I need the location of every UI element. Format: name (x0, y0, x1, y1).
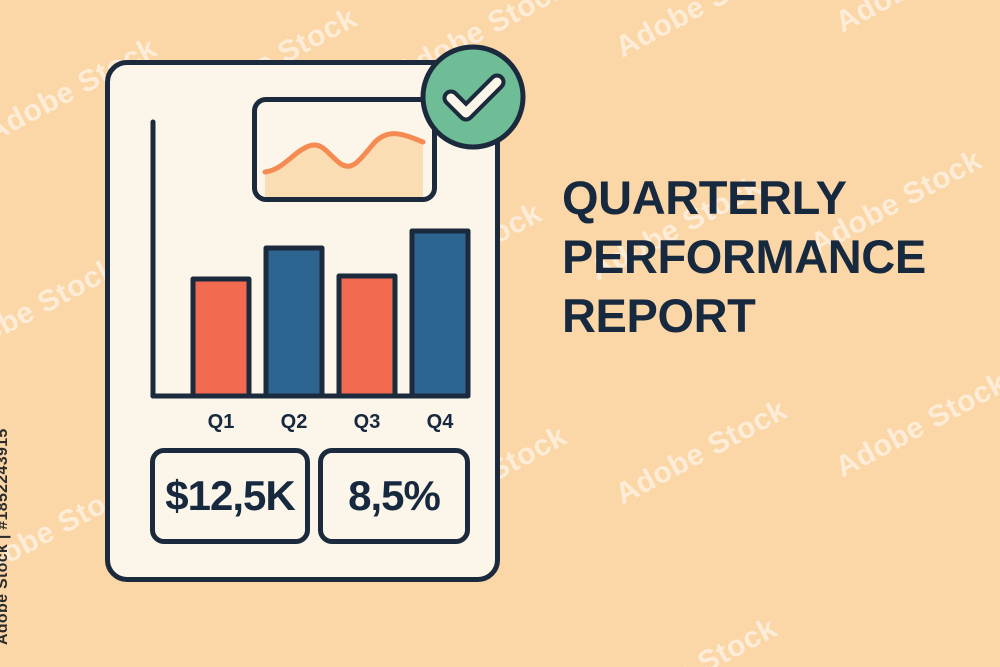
watermark-tile: Adobe Stock (830, 0, 1000, 40)
kpi-growth-value: 8,5% (348, 472, 440, 520)
bar-q1 (193, 279, 249, 396)
trend-sparkline-panel (252, 97, 437, 202)
bar-label-q2: Q2 (281, 411, 308, 433)
bar-q2 (266, 248, 322, 396)
page-title-line-3: REPORT (562, 286, 982, 345)
kpi-revenue-value: $12,5K (165, 472, 294, 520)
watermark-tile: Adobe Stock (600, 611, 783, 667)
verified-check-icon (418, 42, 528, 152)
poster-canvas: Adobe Stock Adobe Stock Adobe Stock Adob… (0, 0, 1000, 667)
watermark-tile: Adobe Stock (610, 393, 793, 512)
bar-q3 (339, 276, 395, 396)
page-title: QUARTERLY PERFORMANCE REPORT (562, 168, 982, 345)
watermark-tile: Adobe Stock (830, 366, 1000, 485)
bar-label-q4: Q4 (427, 411, 455, 433)
page-title-line-1: QUARTERLY (562, 168, 982, 227)
bar-label-q1: Q1 (208, 411, 235, 433)
watermark-tile: Adobe Stock (610, 0, 793, 65)
watermark-stock-id: Adobe Stock | #1852243915 (0, 428, 12, 645)
page-title-line-2: PERFORMANCE (562, 227, 982, 286)
bar-q4 (412, 231, 468, 396)
kpi-revenue: $12,5K (150, 448, 310, 544)
bar-label-q3: Q3 (354, 411, 381, 433)
kpi-growth: 8,5% (318, 448, 470, 544)
